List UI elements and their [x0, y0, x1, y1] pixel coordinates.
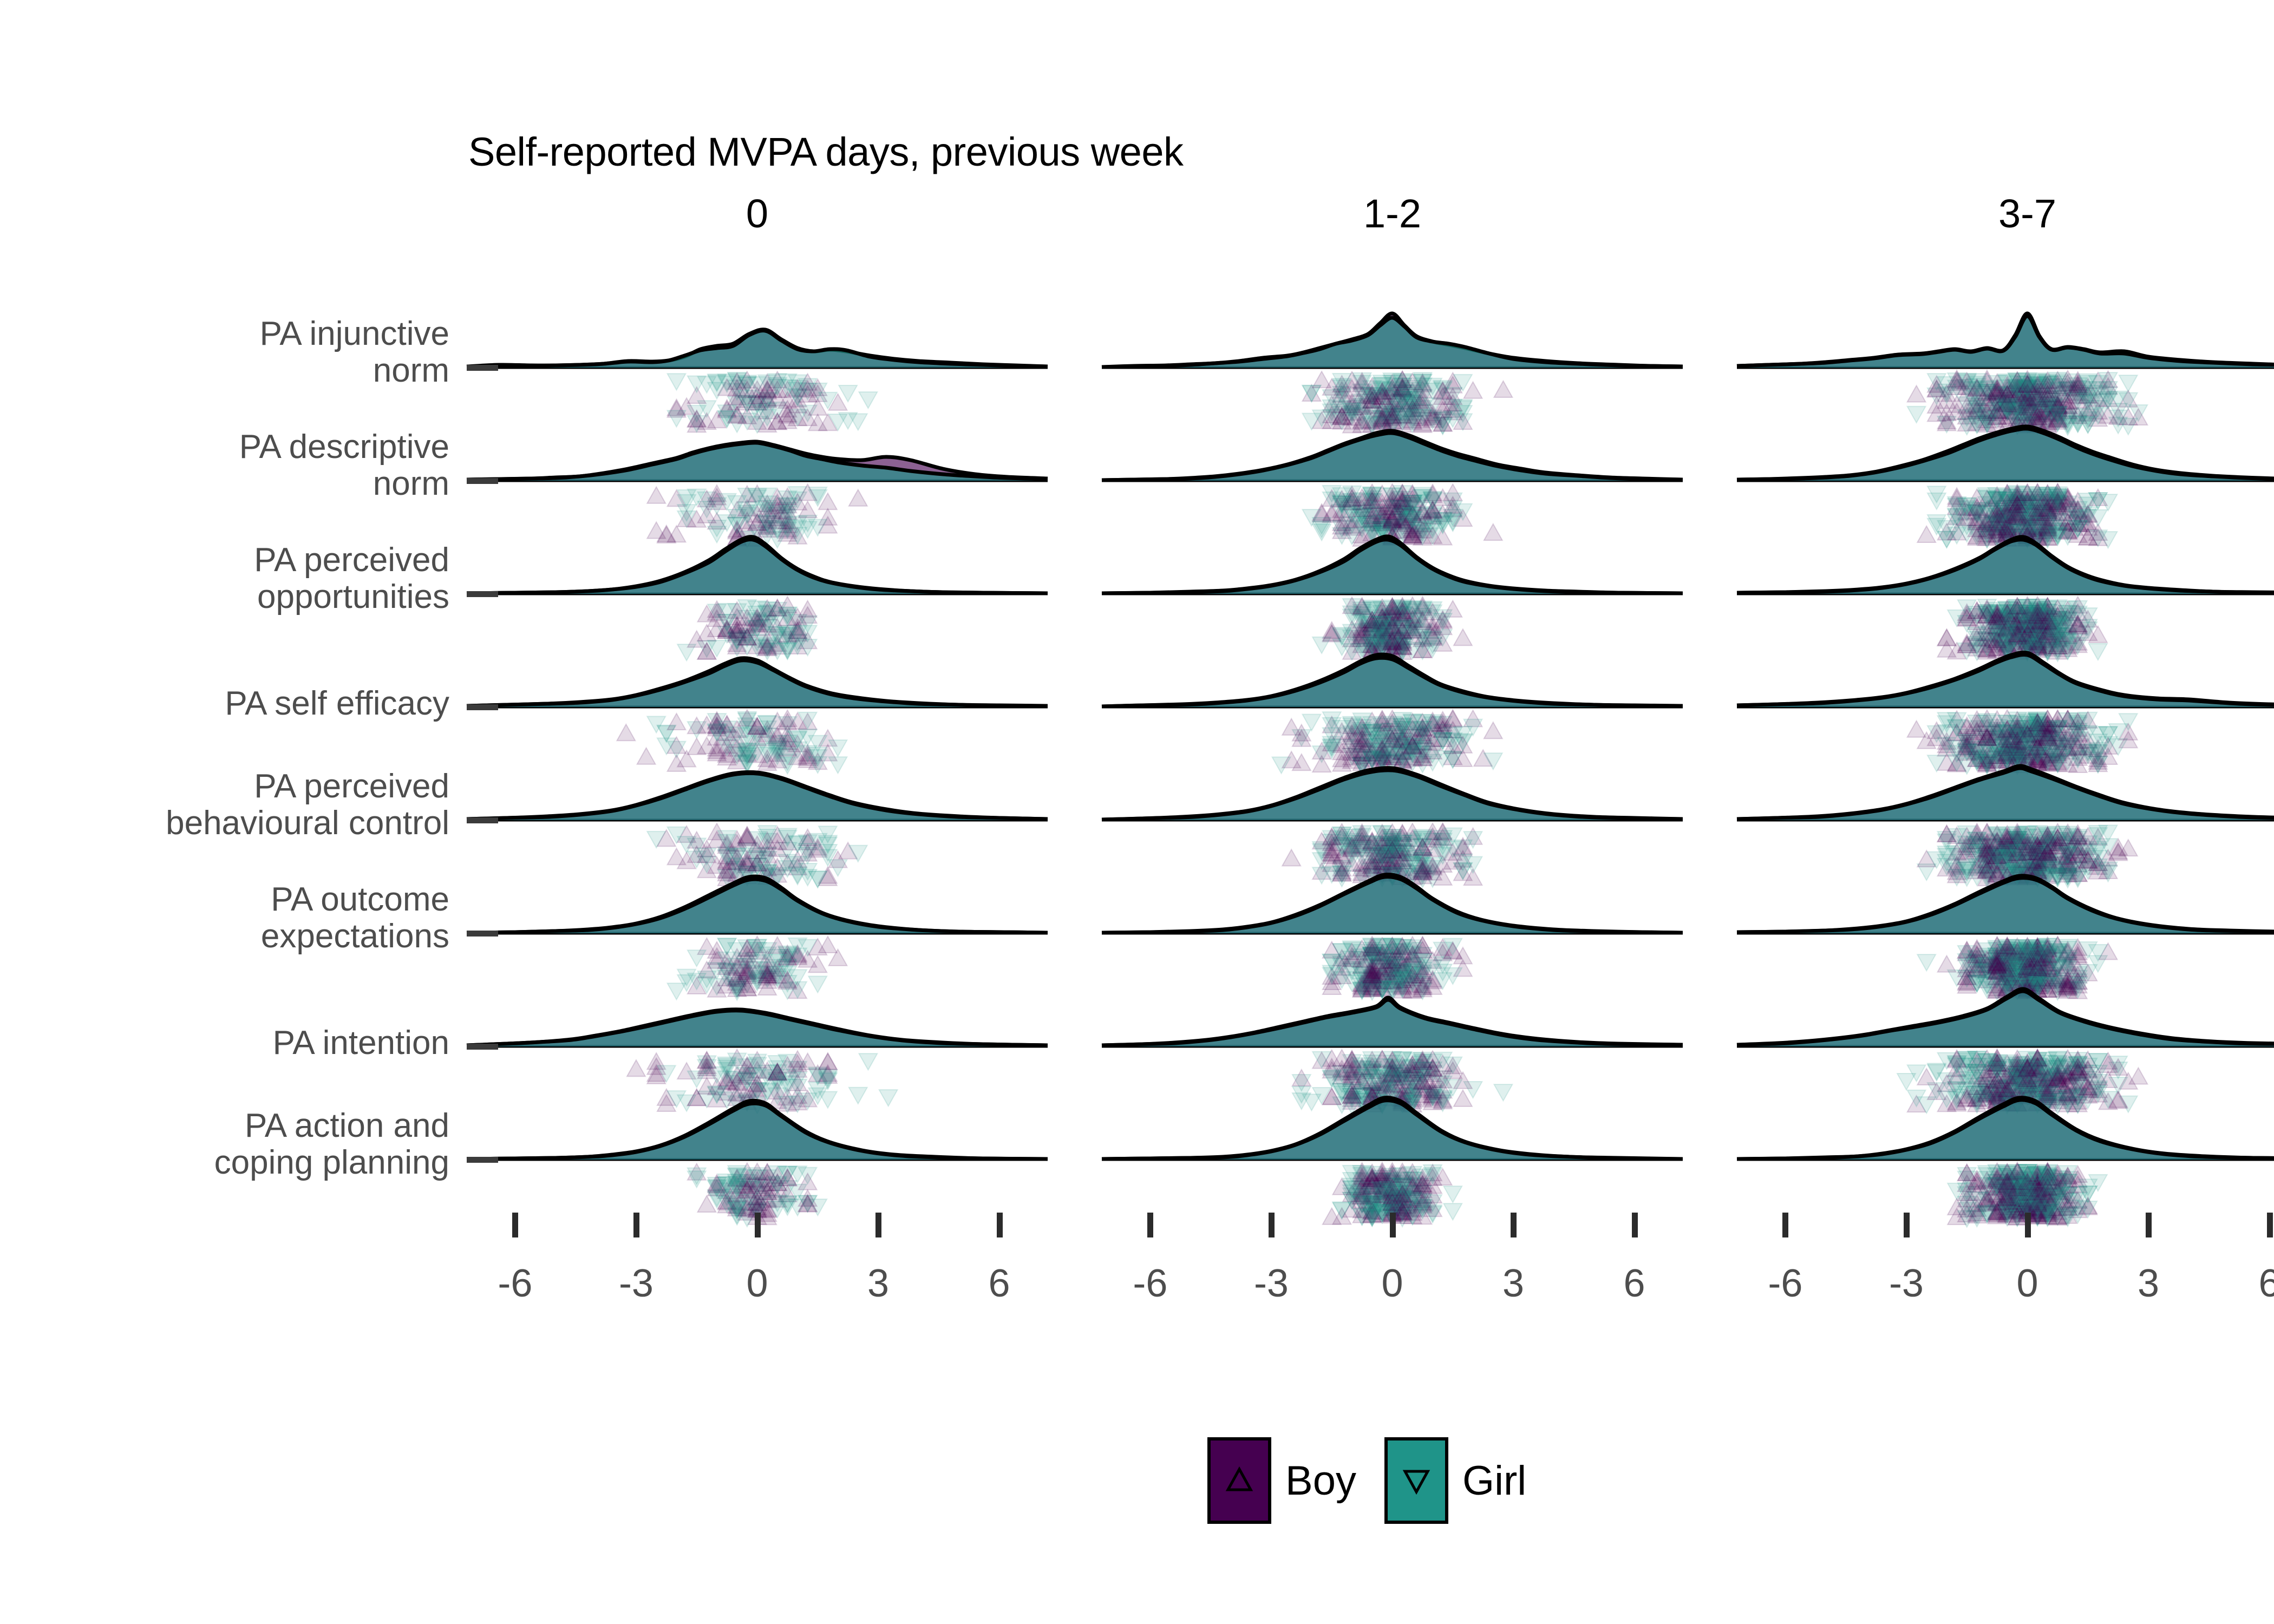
points-0-row4 — [617, 710, 847, 774]
density-area-girl-1-2-row5 — [1102, 770, 1683, 820]
density-area-girl-1-2-row6 — [1102, 877, 1683, 933]
x-tick-mark-0-0 — [755, 1213, 761, 1237]
x-tick-label-0--3: -3 — [582, 1261, 690, 1306]
x-tick-label-1-2-3: 3 — [1459, 1261, 1567, 1306]
density-area-girl-1-2-row3 — [1102, 540, 1683, 594]
x-tick-mark-3-7-3 — [2146, 1213, 2152, 1237]
x-tick-mark-1-2-0 — [1390, 1213, 1396, 1237]
density-area-girl-0-row8 — [467, 1103, 1048, 1160]
x-tick-label-1-2-6: 6 — [1580, 1261, 1689, 1306]
legend-swatch-girl — [1384, 1437, 1448, 1524]
x-tick-label-1-2-0: 0 — [1338, 1261, 1447, 1306]
y-axis-label-7: PA intention — [0, 1025, 449, 1062]
x-tick-label-3-7-0: 0 — [1974, 1261, 2082, 1306]
x-tick-mark-0--6 — [512, 1213, 518, 1237]
points-1-2-row4 — [1272, 710, 1502, 775]
triangle-up-icon — [1220, 1462, 1258, 1499]
density-area-girl-1-2-row7 — [1102, 1000, 1683, 1046]
points-1-2-row6 — [1323, 937, 1472, 1001]
x-tick-mark-0--3 — [633, 1213, 639, 1237]
points-0-row3 — [677, 597, 817, 660]
legend: BoyGirl — [0, 1437, 2274, 1562]
y-axis-label-4: PA self efficacy — [0, 685, 449, 722]
x-tick-mark-0-3 — [875, 1213, 881, 1237]
legend-swatch-boy — [1207, 1437, 1271, 1524]
x-tick-label-3-7--3: -3 — [1852, 1261, 1961, 1306]
y-axis-label-6: PA outcome expectations — [0, 881, 449, 955]
x-tick-label-0-6: 6 — [945, 1261, 1054, 1306]
x-tick-mark-1-2--3 — [1269, 1213, 1275, 1237]
chart-root: Self-reported MVPA days, previous week 0… — [0, 0, 2274, 1624]
triangle-down-icon — [1397, 1462, 1435, 1499]
density-area-girl-3-7-row6 — [1737, 878, 2274, 933]
legend-label-girl: Girl — [1462, 1457, 1526, 1504]
y-axis-tick-4 — [467, 704, 498, 710]
x-tick-mark-3-7-6 — [2267, 1213, 2273, 1237]
points-0-row6 — [667, 937, 847, 1000]
legend-label-boy: Boy — [1285, 1457, 1356, 1504]
y-axis-tick-2 — [467, 478, 498, 484]
y-axis-label-1: PA injunctive norm — [0, 316, 449, 389]
y-axis-label-8: PA action and coping planning — [0, 1108, 449, 1181]
x-tick-label-1-2--6: -6 — [1096, 1261, 1204, 1306]
density-area-girl-0-row5 — [467, 773, 1048, 820]
y-axis-label-5: PA perceived behavioural control — [0, 768, 449, 842]
x-tick-mark-3-7--6 — [1782, 1213, 1788, 1237]
y-axis-tick-5 — [467, 817, 498, 823]
points-1-2-row1 — [1302, 371, 1512, 434]
density-area-girl-1-2-row1 — [1102, 318, 1683, 368]
y-axis-label-3: PA perceived opportunities — [0, 542, 449, 615]
density-area-girl-1-2-row8 — [1102, 1101, 1683, 1160]
x-tick-mark-1-2-3 — [1511, 1213, 1517, 1237]
points-1-2-row3 — [1312, 597, 1472, 660]
y-axis-tick-1 — [467, 365, 498, 371]
density-area-girl-0-row6 — [467, 879, 1048, 933]
density-area-girl-3-7-row8 — [1737, 1100, 2274, 1160]
density-area-girl-0-row3 — [467, 540, 1048, 594]
x-tick-mark-1-2--6 — [1147, 1213, 1153, 1237]
x-tick-mark-1-2-6 — [1632, 1213, 1638, 1237]
x-tick-mark-0-6 — [997, 1213, 1003, 1237]
x-tick-mark-3-7-0 — [2025, 1213, 2031, 1237]
x-tick-label-0-0: 0 — [703, 1261, 812, 1306]
y-axis-label-2: PA descriptive norm — [0, 429, 449, 502]
x-tick-mark-3-7--3 — [1904, 1213, 1910, 1237]
density-area-girl-0-row4 — [467, 660, 1048, 707]
y-axis-tick-8 — [467, 1157, 498, 1163]
y-axis-tick-7 — [467, 1044, 498, 1050]
x-tick-label-0-3: 3 — [824, 1261, 932, 1306]
x-tick-label-3-7-3: 3 — [2094, 1261, 2203, 1306]
x-tick-label-0--6: -6 — [461, 1261, 569, 1306]
y-axis-tick-3 — [467, 591, 498, 597]
x-tick-label-3-7-6: 6 — [2216, 1261, 2274, 1306]
points-0-row1 — [667, 371, 877, 433]
density-area-girl-3-7-row3 — [1737, 540, 2274, 594]
y-axis-tick-6 — [467, 931, 498, 937]
density-area-girl-1-2-row2 — [1102, 433, 1683, 481]
x-tick-label-3-7--6: -6 — [1731, 1261, 1839, 1306]
x-tick-label-1-2--3: -3 — [1217, 1261, 1325, 1306]
points-1-2-row2 — [1302, 484, 1502, 546]
density-area-girl-1-2-row4 — [1102, 658, 1683, 707]
